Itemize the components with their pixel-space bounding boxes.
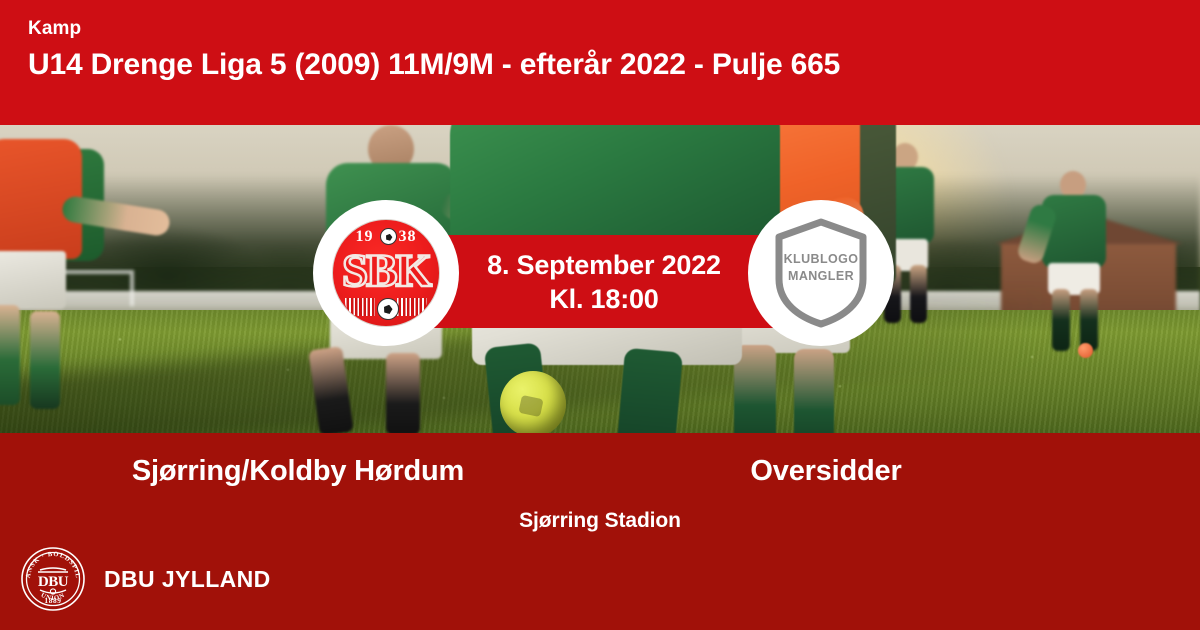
sbk-fan-left xyxy=(345,298,375,316)
svg-text:1889: 1889 xyxy=(44,596,61,605)
match-date: 8. September 2022 xyxy=(487,248,721,282)
photo-ball-background xyxy=(1078,343,1093,358)
page-title: U14 Drenge Liga 5 (2009) 11M/9M - efterå… xyxy=(28,46,1200,84)
shield-text-line2: MANGLER xyxy=(771,268,871,285)
match-venue: Sjørring Stadion xyxy=(0,509,1200,533)
away-club-badge[interactable]: KLUBLOGO MANGLER xyxy=(748,200,894,346)
sbk-ball-bottom-icon xyxy=(377,298,399,320)
photo-player-background-b xyxy=(1020,171,1130,371)
team-names-row: Sjørring/Koldby Hørdum Oversidder xyxy=(0,451,1200,495)
home-team-name: Sjørring/Koldby Hørdum xyxy=(0,451,596,491)
footer-org-label: DBU JYLLAND xyxy=(104,566,271,593)
dbu-seal-icon: DANSK · BOLDSPIL · UNION DBU 1889 xyxy=(20,546,86,612)
sbk-monogram: SBK xyxy=(333,246,439,296)
home-club-badge[interactable]: 19 38 SBK xyxy=(313,200,459,346)
header-kicker: Kamp xyxy=(28,18,1200,40)
photo-player-orange-left xyxy=(0,139,126,429)
away-team-name: Oversidder xyxy=(596,451,1056,491)
shield-placeholder-text: KLUBLOGO MANGLER xyxy=(771,251,871,285)
match-poster: Kamp U14 Drenge Liga 5 (2009) 11M/9M - e… xyxy=(0,0,1200,630)
svg-text:DBU: DBU xyxy=(38,574,69,590)
sbk-crest-icon: 19 38 SBK xyxy=(332,219,440,327)
shield-text-line1: KLUBLOGO xyxy=(771,251,871,268)
match-time: Kl. 18:00 xyxy=(549,282,658,316)
sbk-ball-top-icon xyxy=(380,228,397,245)
footer-brand: DANSK · BOLDSPIL · UNION DBU 1889 DBU JY… xyxy=(20,546,271,612)
photo-football xyxy=(500,371,566,433)
sbk-fan-right xyxy=(397,298,427,316)
shield-placeholder: KLUBLOGO MANGLER xyxy=(771,217,871,329)
poster-header: Kamp U14 Drenge Liga 5 (2009) 11M/9M - e… xyxy=(0,0,1200,125)
